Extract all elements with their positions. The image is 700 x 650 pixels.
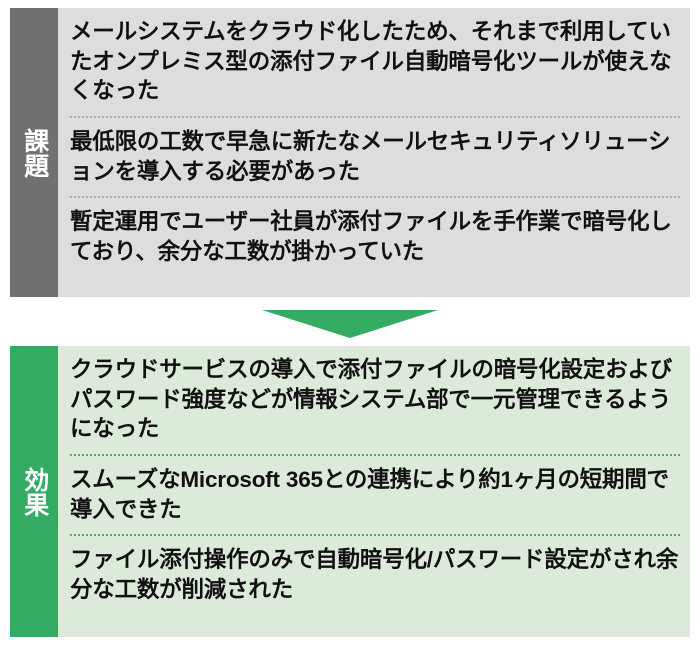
effect-row: クラウドサービスの導入で添付ファイルの暗号化設定およびパスワード強度などが情報シ… xyxy=(70,346,680,454)
arrow-down-icon xyxy=(262,310,438,338)
effect-row: スムーズなMicrosoft 365との連携により約1ヶ月の短期間で導入できた xyxy=(70,454,680,534)
issue-label-text: 課題 xyxy=(21,128,47,178)
issue-panel: 課題 メールシステムをクラウド化したため、それまで利用していたオンプレミス型の添… xyxy=(10,8,690,297)
issue-row: 最低限の工数で早急に新たなメールセキュリティソリューションを導入する必要があった xyxy=(70,116,680,196)
issue-panel-body: メールシステムをクラウド化したため、それまで利用していたオンプレミス型の添付ファ… xyxy=(58,8,690,297)
issue-effect-diagram: 課題 メールシステムをクラウド化したため、それまで利用していたオンプレミス型の添… xyxy=(0,0,700,650)
issue-panel-label: 課題 xyxy=(10,8,58,297)
effect-panel: 効果 クラウドサービスの導入で添付ファイルの暗号化設定およびパスワード強度などが… xyxy=(10,346,690,637)
effect-row: ファイル添付操作のみで自動暗号化/パスワード設定がされ余分な工数が削減された xyxy=(70,534,680,614)
issue-row: 暫定運用でユーザー社員が添付ファイルを手作業で暗号化しており、余分な工数が掛かっ… xyxy=(70,196,680,276)
issue-row: メールシステムをクラウド化したため、それまで利用していたオンプレミス型の添付ファ… xyxy=(70,8,680,116)
effect-panel-body: クラウドサービスの導入で添付ファイルの暗号化設定およびパスワード強度などが情報シ… xyxy=(58,346,690,637)
effect-label-text: 効果 xyxy=(21,467,47,517)
effect-panel-label: 効果 xyxy=(10,346,58,637)
